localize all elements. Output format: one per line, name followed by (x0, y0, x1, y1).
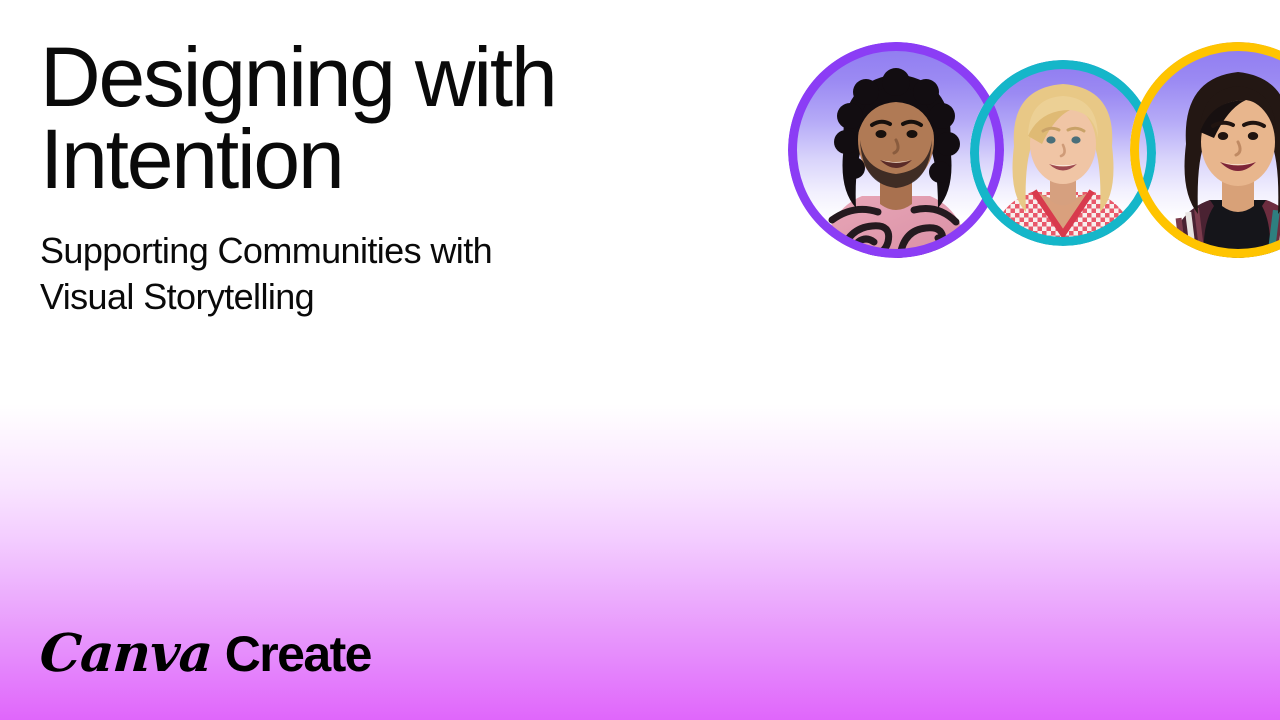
portrait-illustration-3 (1130, 42, 1280, 258)
title-block: Designing with Intention Supporting Comm… (40, 36, 720, 320)
speaker-avatar-row (770, 0, 1280, 300)
portrait-illustration-2 (970, 60, 1156, 246)
avatar-clip-3 (1130, 42, 1280, 258)
slide-title: Designing with Intention (40, 36, 720, 200)
slide-subtitle: Supporting Communities with Visual Story… (40, 228, 720, 320)
speaker-avatar-3 (1130, 42, 1280, 258)
create-wordmark: Create (225, 629, 371, 679)
presentation-slide: Designing with Intention Supporting Comm… (0, 0, 1280, 720)
canva-create-logo: Canva Create (40, 628, 371, 680)
speaker-avatar-2 (970, 60, 1156, 246)
canva-wordmark: Canva (38, 628, 213, 680)
avatar-clip-2 (970, 60, 1156, 246)
